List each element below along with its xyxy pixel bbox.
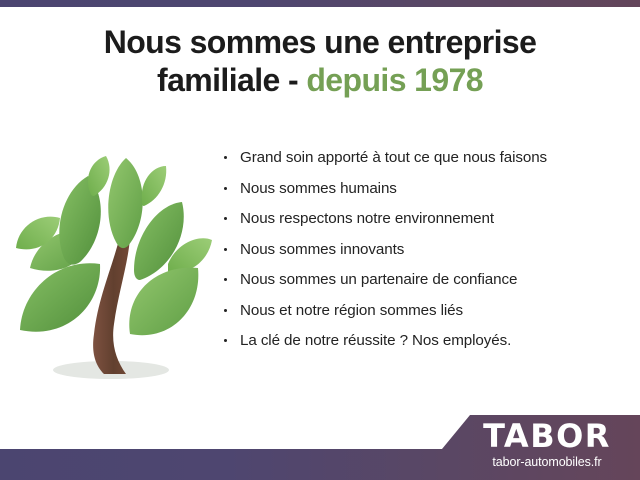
leaf-lower-left	[20, 263, 100, 331]
bullet-dot-icon	[224, 339, 227, 342]
leaf-top-right	[142, 166, 166, 206]
bullet-dot-icon	[224, 217, 227, 220]
heading-line-2: familiale - depuis 1978	[0, 62, 640, 100]
heading-line-1: Nous sommes une entreprise	[0, 24, 640, 62]
list-item-label: Nous sommes un partenaire de confiance	[240, 271, 517, 288]
leaf-top-small	[88, 156, 110, 196]
benefits-list: Grand soin apporté à tout ce que nous fa…	[222, 148, 627, 350]
list-item-label: Nous sommes humains	[240, 180, 397, 197]
slide-canvas: Nous sommes une entreprise familiale - d…	[0, 0, 640, 480]
list-item: Nous et notre région sommes liés	[222, 301, 627, 320]
leaf-top-center	[108, 158, 142, 248]
tree-illustration	[8, 148, 213, 393]
bullet-dot-icon	[224, 248, 227, 251]
list-item-label: Grand soin apporté à tout ce que nous fa…	[240, 149, 547, 166]
list-item: Grand soin apporté à tout ce que nous fa…	[222, 148, 627, 167]
list-item: Nous sommes un partenaire de confiance	[222, 270, 627, 289]
list-item: La clé de notre réussite ? Nos employés.	[222, 331, 627, 350]
list-item-label: Nous respectons notre environnement	[240, 210, 494, 227]
list-item-label: La clé de notre réussite ? Nos employés.	[240, 332, 511, 349]
brand-logo[interactable]: TABOR tabor-automobiles.fr	[464, 420, 630, 469]
tree-trunk	[93, 236, 130, 374]
logo-wordmark: TABOR	[464, 420, 630, 452]
heading-highlight: depuis 1978	[306, 62, 483, 98]
list-item: Nous sommes innovants	[222, 240, 627, 259]
page-title: Nous sommes une entreprise familiale - d…	[0, 24, 640, 100]
list-item-label: Nous et notre région sommes liés	[240, 302, 463, 319]
bullet-dot-icon	[224, 156, 227, 159]
list-item: Nous respectons notre environnement	[222, 209, 627, 228]
top-accent-strip	[0, 0, 640, 7]
logo-tagline: tabor-automobiles.fr	[464, 456, 630, 469]
list-item-label: Nous sommes innovants	[240, 241, 404, 258]
bullet-dot-icon	[224, 187, 227, 190]
footer-bar: TABOR tabor-automobiles.fr	[0, 407, 640, 480]
heading-dash: -	[288, 62, 298, 98]
heading-prefix: familiale	[157, 62, 280, 98]
bullet-dot-icon	[224, 309, 227, 312]
list-item: Nous sommes humains	[222, 179, 627, 198]
bullet-dot-icon	[224, 278, 227, 281]
